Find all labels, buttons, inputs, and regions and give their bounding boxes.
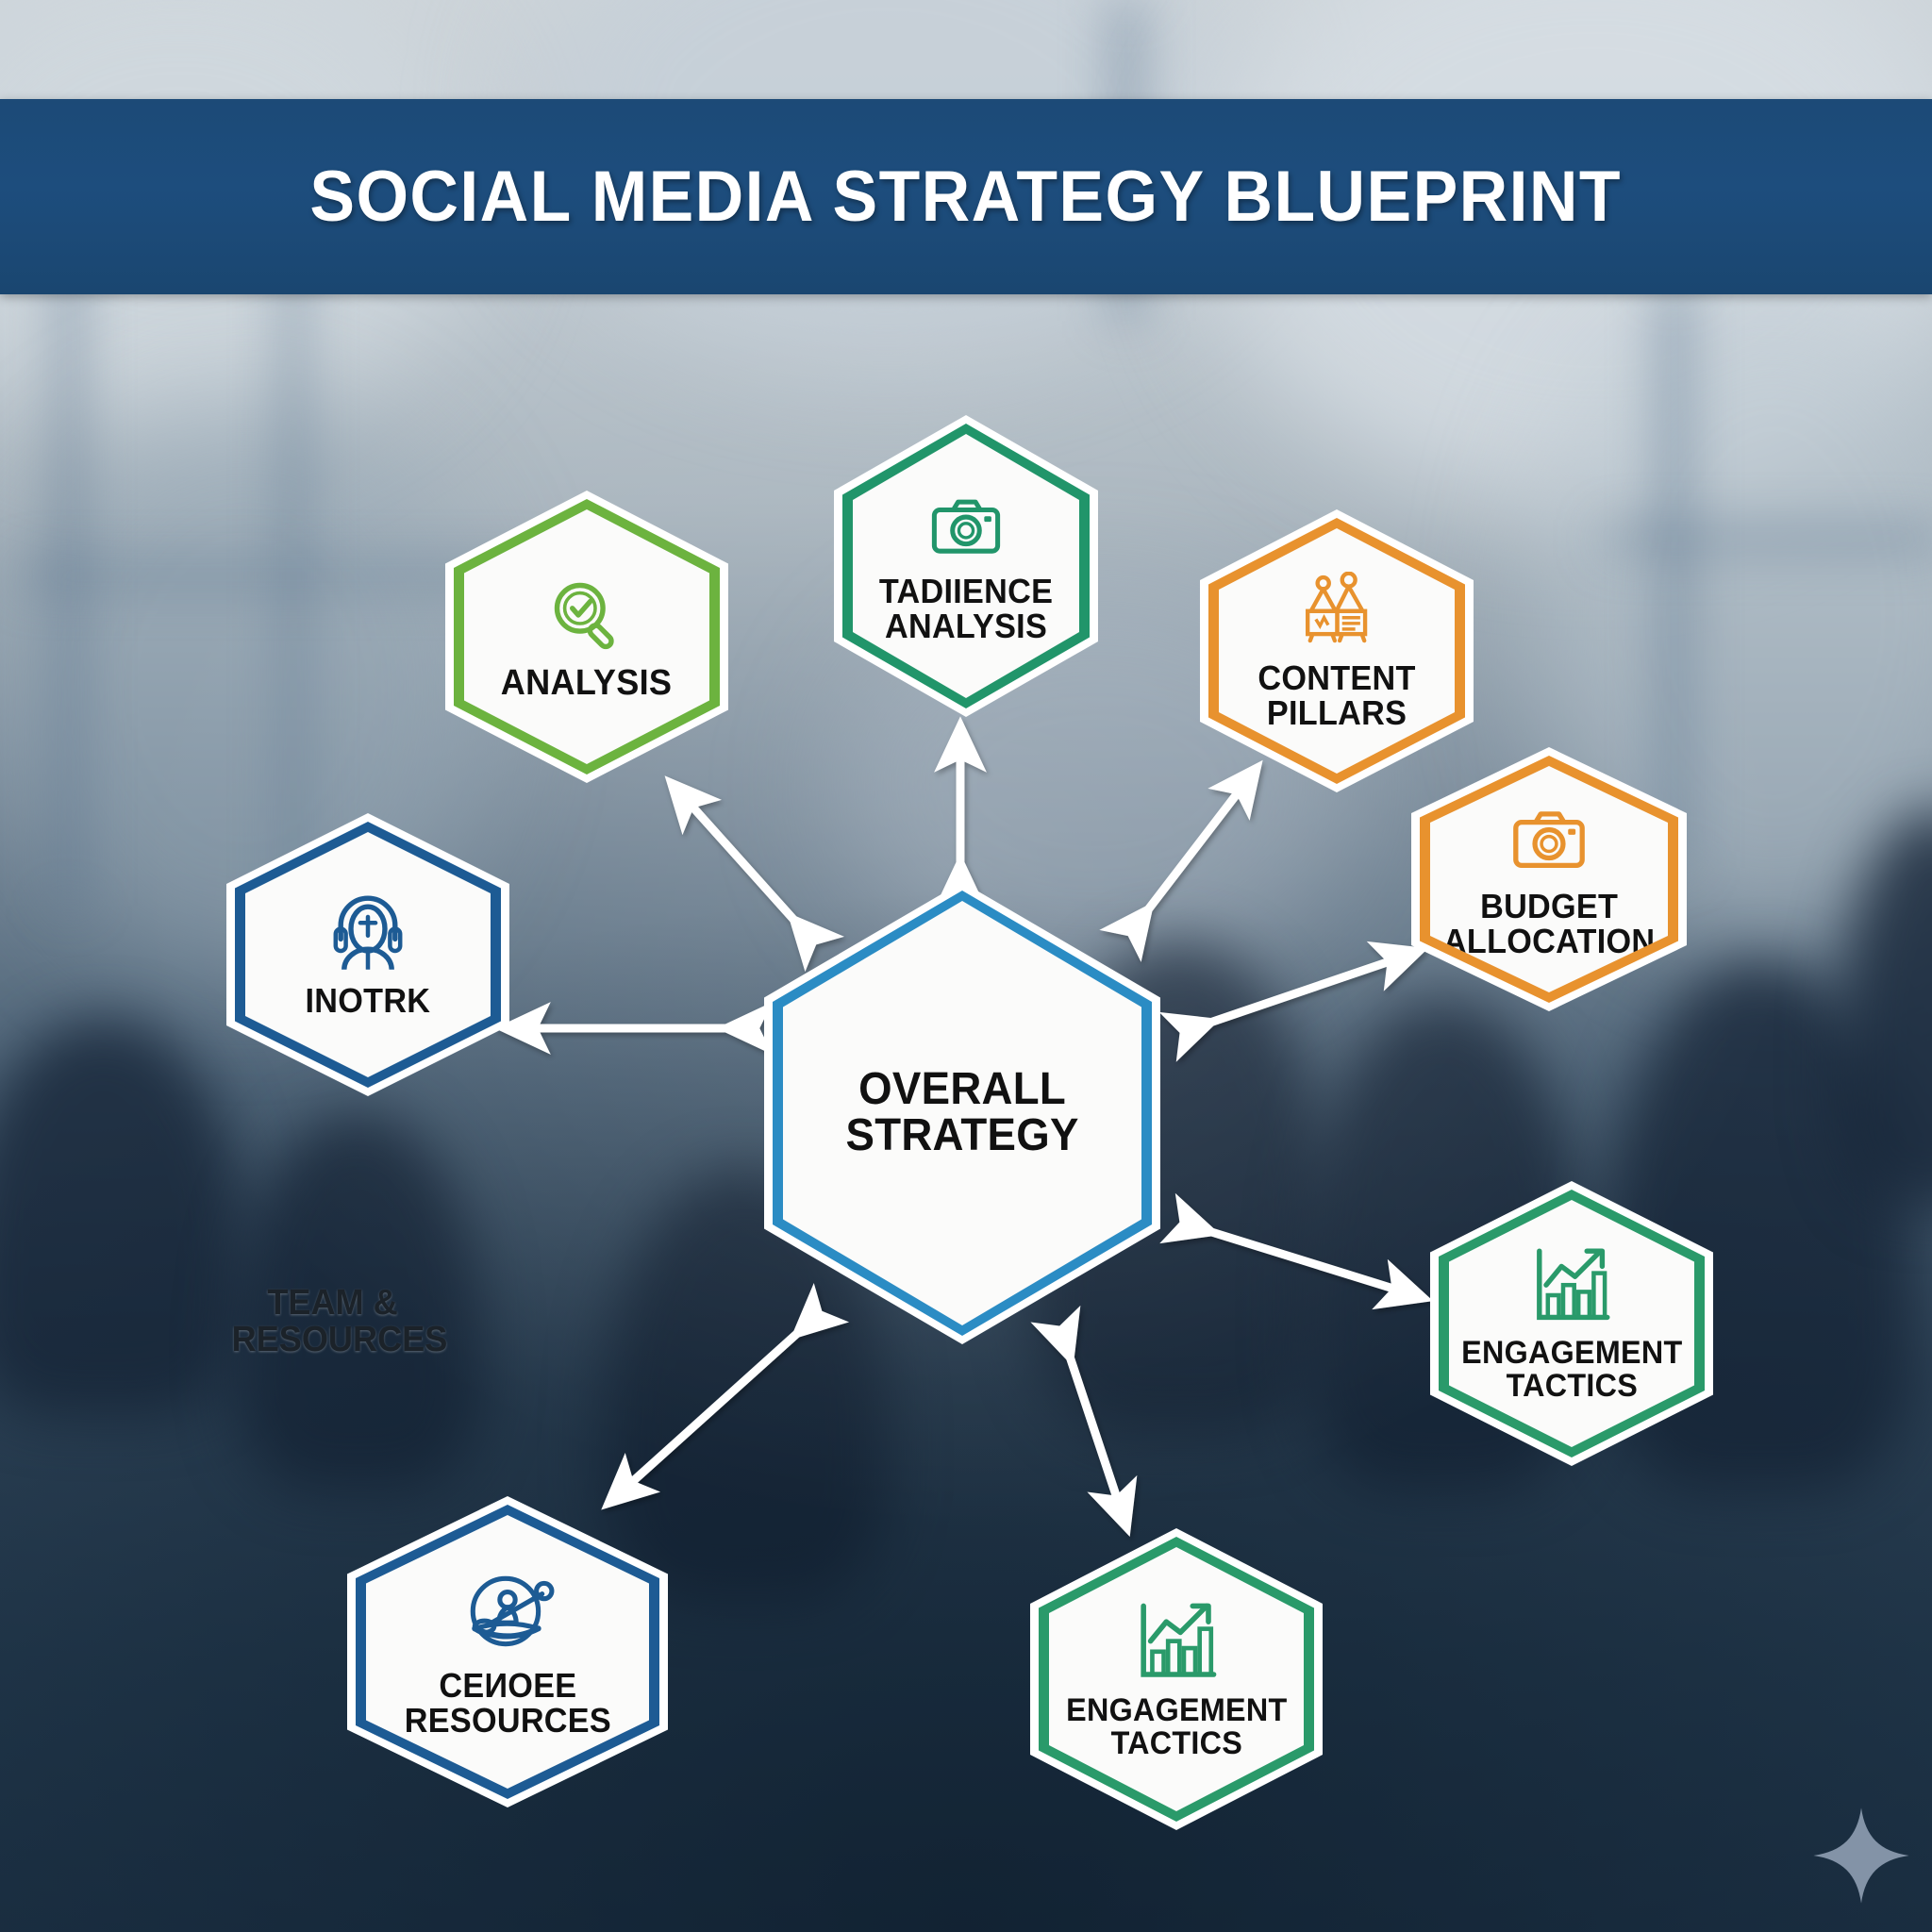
node-label: ENGAGEMENT TACTICS [1066,1694,1287,1759]
node-accent-ring: ENGAGEMENT TACTICS [1439,1190,1705,1457]
sparkle-star-icon [1809,1804,1913,1907]
node-accent-ring: ENGAGEMENT TACTICS [1039,1537,1314,1822]
node-accent-ring: INOTRK [235,822,501,1088]
node-accent-ring: CONTENT PILLARS [1208,518,1465,784]
center-node-label: OVERALL STRATEGY [845,1067,1078,1159]
node-label: CEИOEE RESOURCES [404,1669,610,1738]
node-body: INOTRK [245,832,491,1077]
person-headset-icon [325,891,410,976]
bar-chart-growth-icon [1133,1599,1221,1687]
node-body: ENGAGEMENT TACTICS [1049,1547,1304,1811]
node-accent-ring: CEИOEE RESOURCES [356,1505,659,1799]
magnifier-check-icon [544,573,629,658]
page-title: SOCIAL MEDIA STRATEGY BLUEPRINT [310,156,1623,238]
node-accent-ring: TADIIENCE ANALYSIS [842,424,1090,708]
kayak-person-icon [459,1565,556,1661]
camera-icon [926,488,1006,567]
header-bar: SOCIAL MEDIA STRATEGY BLUEPRINT [0,99,1932,294]
node-accent-ring: BUDGET ALLOCATION [1420,756,1678,1003]
node-label: ANALYSIS [501,665,672,702]
node-body: ANALYSIS [464,509,709,764]
node-body: BUDGET ALLOCATION [1430,766,1668,992]
node-body: CONTENT PILLARS [1219,528,1455,774]
camera-icon [1507,799,1591,882]
floating-label-team-resources: TEAM & RESOURCES [232,1285,434,1358]
center-node-body: OVERALL STRATEGY [783,901,1141,1325]
node-body: CEИOEE RESOURCES [366,1515,649,1789]
infographic-canvas: SOCIAL MEDIA STRATEGY BLUEPRINT [0,0,1932,1932]
node-body: TADIIENCE ANALYSIS [853,434,1079,698]
node-label: BUDGET ALLOCATION [1443,890,1655,958]
node-label: TADIIENCE ANALYSIS [879,575,1053,643]
bar-chart-growth-icon [1529,1244,1614,1329]
node-label: ENGAGEMENT TACTICS [1461,1337,1682,1402]
node-accent-ring: ANALYSIS [454,499,720,774]
node-label: INOTRK [306,984,431,1019]
node-body: ENGAGEMENT TACTICS [1449,1200,1694,1447]
node-label: CONTENT PILLARS [1257,661,1415,730]
content-board-icon [1296,572,1378,654]
